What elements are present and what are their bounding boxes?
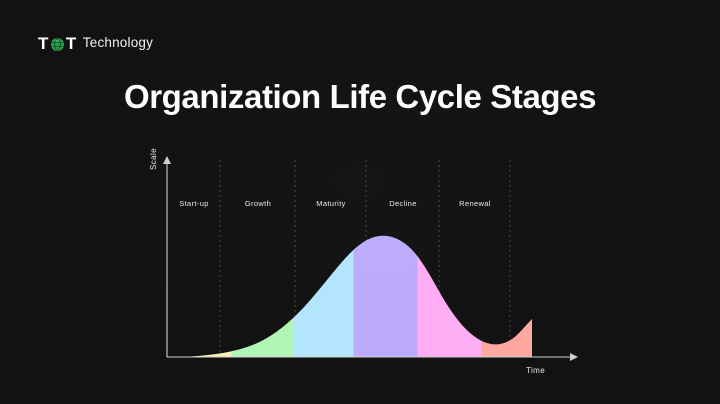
page-title: Organization Life Cycle Stages (0, 78, 720, 116)
brand-letter-right: T (66, 35, 77, 52)
brand-letter-left: T (38, 35, 49, 52)
y-axis (163, 156, 171, 357)
brand-mark: T T (38, 35, 77, 52)
green-globe-icon (50, 37, 65, 52)
chart-svg (140, 148, 600, 384)
brand-name: Technology (83, 36, 153, 50)
slide-canvas: T T Technology Organization Life Cycle S… (0, 0, 720, 404)
life-cycle-curve-fill (167, 148, 532, 358)
brand-logo[interactable]: T T Technology (38, 32, 153, 54)
life-cycle-chart: Start-up Growth Maturity Decline Renewal… (140, 148, 600, 384)
